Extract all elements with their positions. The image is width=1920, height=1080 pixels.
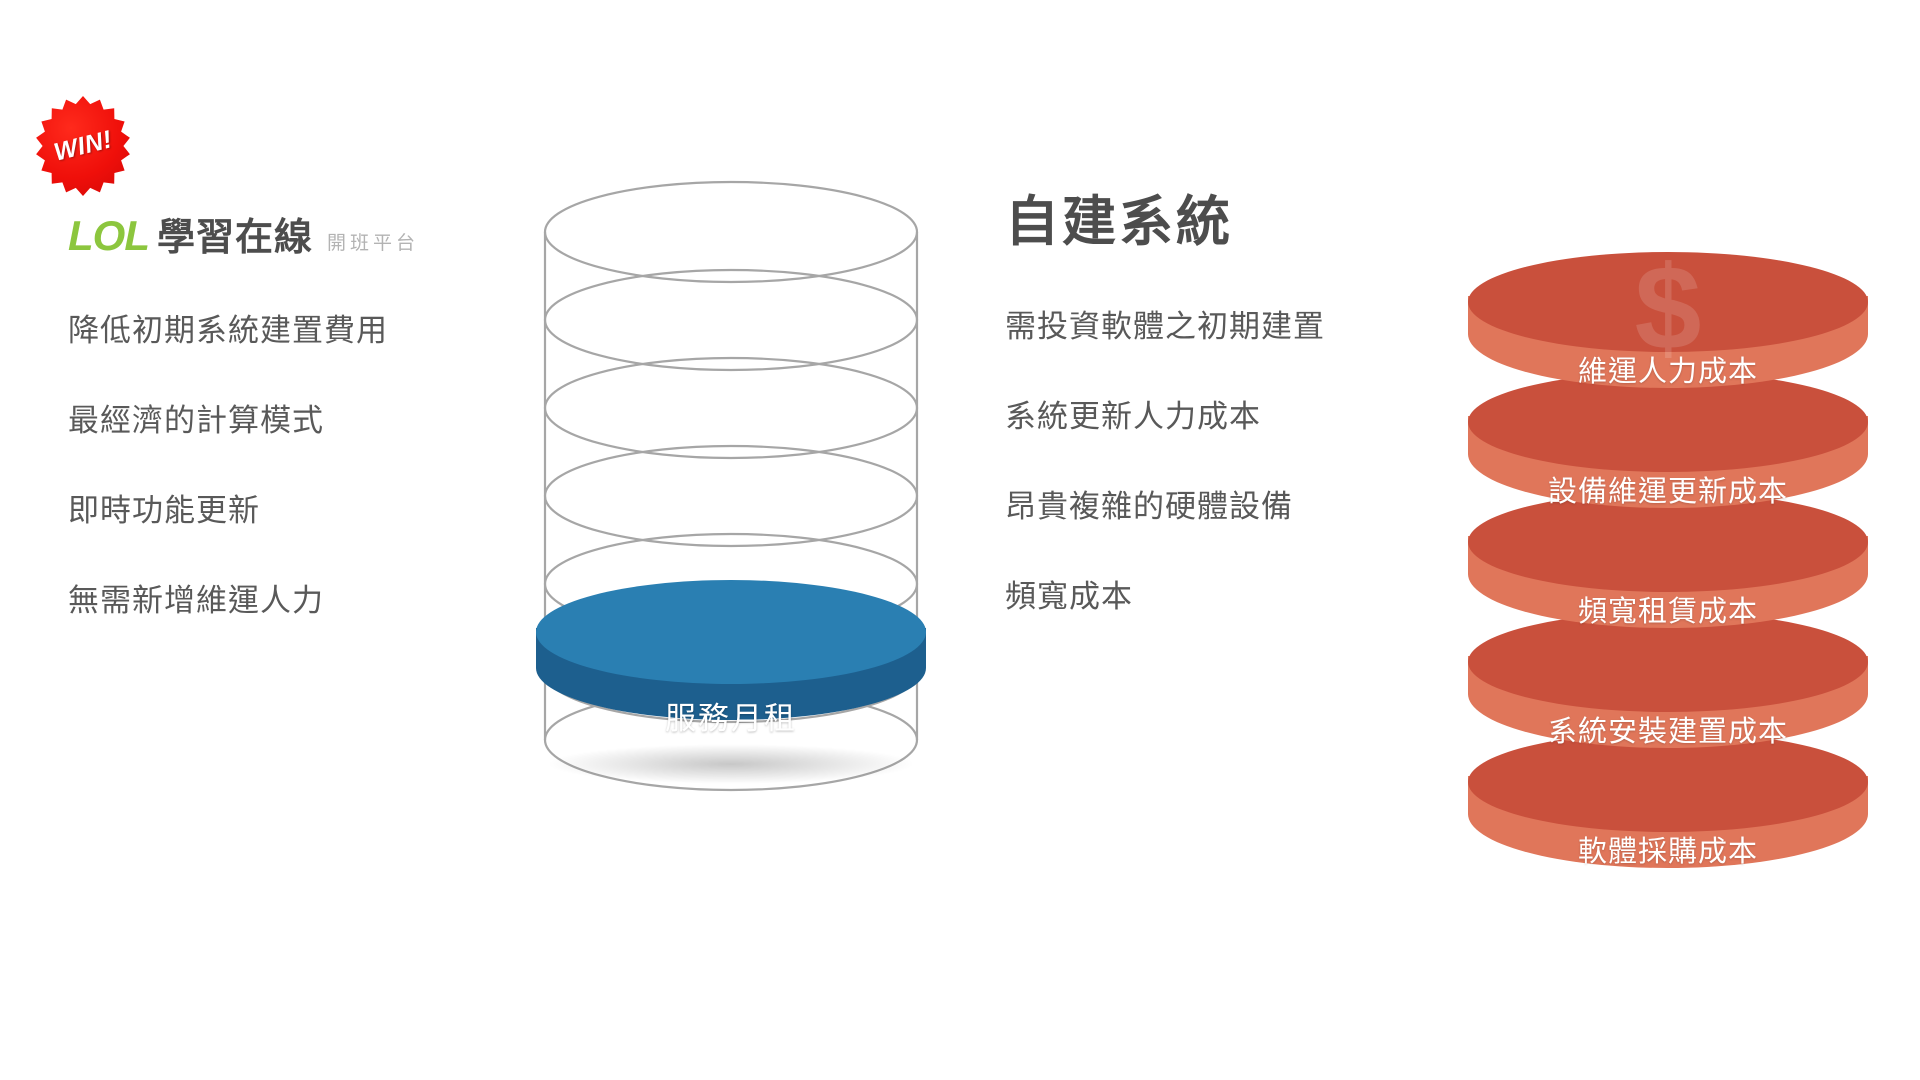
- coin-label: 設備維運更新成本: [1468, 468, 1868, 510]
- list-item: 昂貴複雜的硬體設備: [1005, 481, 1475, 526]
- infographic-canvas: WIN! LOL 學習在線 開班平台 降低初期系統建置費用 最經濟的計算模式 即…: [0, 0, 1920, 1080]
- brand-logo: LOL 學習在線 開班平台: [68, 215, 498, 257]
- list-item: 降低初期系統建置費用: [68, 305, 498, 350]
- right-column: 自建系統 需投資軟體之初期建置 系統更新人力成本 昂貴複雜的硬體設備 頻寬成本: [1005, 195, 1475, 661]
- coin-label: 系統安裝建置成本: [1468, 708, 1868, 750]
- service-cylinder: 服務月租: [536, 180, 926, 910]
- logo-subtitle: 開班平台: [327, 234, 419, 257]
- logo-mark: LOL: [68, 215, 149, 257]
- cylinder-label: 服務月租: [536, 693, 926, 738]
- list-item: 即時功能更新: [68, 485, 498, 530]
- left-column: LOL 學習在線 開班平台 降低初期系統建置費用 最經濟的計算模式 即時功能更新…: [68, 215, 498, 665]
- list-item: 系統更新人力成本: [1005, 391, 1475, 436]
- dollar-sign-icon: $: [1468, 248, 1868, 368]
- list-item: 無需新增維運人力: [68, 575, 498, 620]
- page-title: 自建系統: [1005, 195, 1475, 249]
- list-item: 需投資軟體之初期建置: [1005, 301, 1475, 346]
- feature-list: 降低初期系統建置費用 最經濟的計算模式 即時功能更新 無需新增維運人力: [68, 305, 498, 620]
- list-item: 最經濟的計算模式: [68, 395, 498, 440]
- win-badge-label: WIN!: [22, 85, 143, 206]
- disc-top: [536, 580, 926, 684]
- coin-label: 頻寬租賃成本: [1468, 588, 1868, 630]
- list-item: 頻寬成本: [1005, 571, 1475, 616]
- win-badge: WIN!: [33, 96, 133, 196]
- coin-label: 軟體採購成本: [1468, 828, 1868, 870]
- cylinder-rings-icon: [536, 180, 926, 910]
- logo-name: 學習在線: [157, 219, 313, 257]
- cost-list: 需投資軟體之初期建置 系統更新人力成本 昂貴複雜的硬體設備 頻寬成本: [1005, 301, 1475, 616]
- cost-coin-stack: 軟體採購成本 系統安裝建置成本 頻寬租賃成本 設備維運更新成本 維運人力成本 $: [1468, 170, 1868, 930]
